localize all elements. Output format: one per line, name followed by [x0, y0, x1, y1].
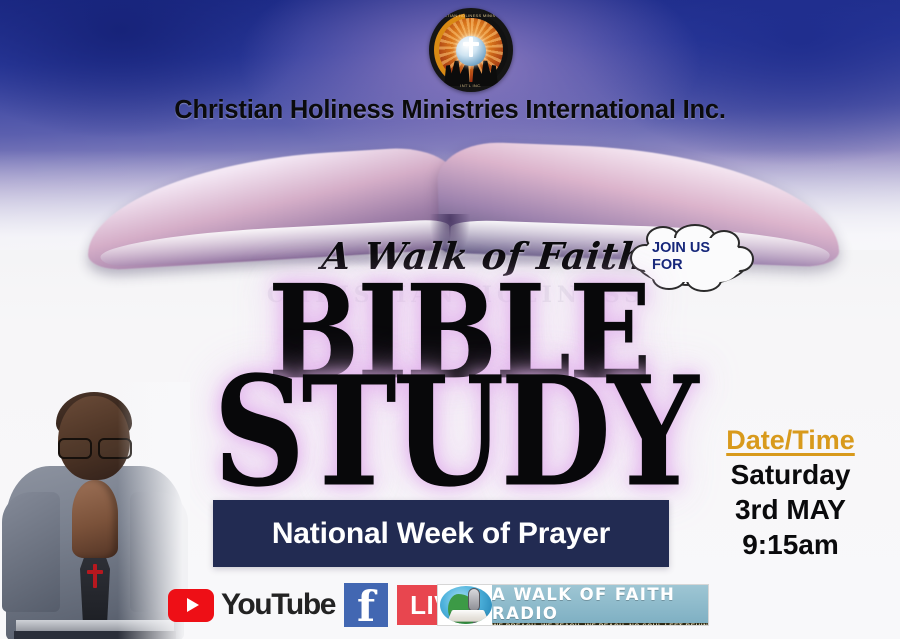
- open-book-icon: [447, 610, 489, 622]
- a-walk-of-faith-radio-banner[interactable]: A WALK OF FAITH RADIO WE PREACH. WE TEAC…: [437, 584, 709, 626]
- play-triangle-icon: [187, 598, 199, 612]
- event-time: 9:15am: [688, 528, 893, 561]
- photo-edge-fade: [0, 382, 190, 639]
- cross-icon: [469, 37, 473, 57]
- date-time-block: Date/Time Saturday 3rd MAY 9:15am: [688, 425, 893, 561]
- date-time-label: Date/Time: [688, 425, 893, 456]
- organization-title: Christian Holiness Ministries Internatio…: [0, 96, 900, 125]
- radio-tagline: WE PREACH. WE TEACH. WE REACH. NO SOUL L…: [492, 623, 709, 626]
- social-links-row: YouTube f LIVE: [168, 584, 483, 626]
- logo-bottom-arc-text: INT'L INC.: [429, 83, 513, 88]
- event-date: 3rd MAY: [688, 493, 893, 526]
- microphone-icon: [468, 588, 480, 612]
- radio-tagline-bar: WE PREACH. WE TEACH. WE REACH. NO SOUL L…: [492, 623, 709, 626]
- radio-title-bar: A WALK OF FAITH RADIO: [492, 585, 709, 623]
- youtube-icon[interactable]: [168, 589, 214, 622]
- cloud-callout-text: JOIN US FOR: [644, 240, 742, 274]
- logo-top-arc-text: CHRISTIAN HOLINESS MINISTRIES: [429, 13, 513, 39]
- headline-study: STUDY: [213, 370, 695, 497]
- bible-study-flyer: CHRISTIAN HOLINESS MINISTRIES INT'L INC.…: [0, 0, 900, 639]
- logo-disc: CHRISTIAN HOLINESS MINISTRIES INT'L INC.: [429, 8, 513, 92]
- facebook-icon[interactable]: f: [344, 583, 388, 627]
- radio-title: A WALK OF FAITH RADIO: [492, 585, 709, 623]
- national-week-of-prayer-banner: National Week of Prayer: [213, 500, 669, 567]
- ministry-logo: CHRISTIAN HOLINESS MINISTRIES INT'L INC.: [429, 8, 513, 92]
- praying-man-photo: [0, 382, 190, 639]
- banner-text: National Week of Prayer: [272, 517, 610, 551]
- youtube-link[interactable]: YouTube: [168, 588, 335, 622]
- radio-text-column: A WALK OF FAITH RADIO WE PREACH. WE TEAC…: [492, 585, 709, 625]
- event-day: Saturday: [688, 458, 893, 491]
- youtube-label: YouTube: [221, 588, 335, 622]
- radio-globe-icon: [440, 586, 492, 624]
- facebook-f-glyph: f: [357, 587, 375, 627]
